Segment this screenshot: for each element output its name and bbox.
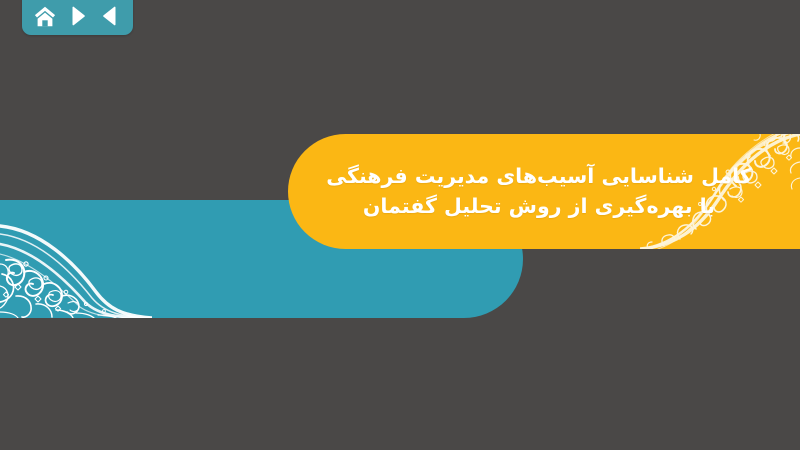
slide-title: کامل شناسایی آسیب‌های مدیریت فرهنگی با ب… [304, 134, 774, 249]
arabesque-corner-ornament-teal [0, 200, 152, 318]
triangle-right-icon [69, 6, 87, 26]
next-slide-button[interactable] [65, 4, 91, 28]
presentation-slide: کامل شناسایی آسیب‌های مدیریت فرهنگی با ب… [0, 0, 800, 450]
triangle-left-icon [101, 6, 119, 26]
slide-navigation-bar [22, 0, 133, 35]
title-line-1: کامل شناسایی آسیب‌های مدیریت فرهنگی [326, 163, 751, 191]
title-band: کامل شناسایی آسیب‌های مدیریت فرهنگی با ب… [288, 134, 800, 249]
title-line-2: با بهره‌گیری از روش تحلیل گفتمان [363, 193, 715, 221]
home-slide-button[interactable] [32, 4, 58, 28]
home-icon [34, 6, 56, 27]
previous-slide-button[interactable] [97, 4, 123, 28]
